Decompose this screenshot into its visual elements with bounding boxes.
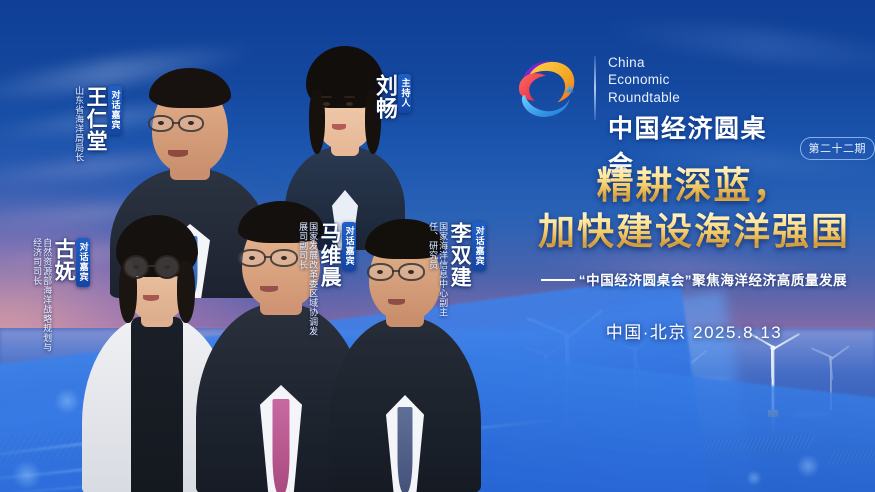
participant-role: 对话嘉宾 xyxy=(342,222,355,271)
headline-line-1: 精耕深蓝， xyxy=(524,163,864,209)
nameplate-wang-rentang: 对话嘉宾 王仁堂 山东省海洋局局长 xyxy=(74,86,122,162)
logo-en-line2: Economic xyxy=(608,71,875,88)
nameplate-gu-wu: 对话嘉宾 古妩 自然资源部海洋战略规划与经济司司长 xyxy=(32,238,90,358)
logo-divider xyxy=(594,56,596,120)
logo-en-line3: Roundtable xyxy=(608,89,875,106)
headline-block: 精耕深蓝， 加快建设海洋强国 “中国经济圆桌会”聚焦海洋经济高质量发展 xyxy=(524,163,864,289)
participant-name: 王仁堂 xyxy=(85,86,106,152)
bokeh-light xyxy=(746,470,762,486)
host-name: 刘畅 xyxy=(374,74,396,120)
participant-role: 对话嘉宾 xyxy=(472,222,485,271)
participant-title: 山东省海洋局局长 xyxy=(74,86,84,162)
logo-text-block: China Economic Roundtable 中国经济圆桌会 第二十二期 xyxy=(608,52,875,181)
participant-name: 古妩 xyxy=(53,238,74,282)
participant-title: 国家海洋信息中心副主任、研究员 xyxy=(428,222,448,334)
participant-role: 对话嘉宾 xyxy=(76,238,89,287)
host-role: 主持人 xyxy=(398,74,411,113)
program-logo-block: China Economic Roundtable 中国经济圆桌会 第二十二期 xyxy=(512,52,875,181)
headline-subtitle-row: “中国经济圆桌会”聚焦海洋经济高质量发展 xyxy=(524,269,864,289)
participant-name: 李双建 xyxy=(449,222,470,288)
nameplate-ma-weichen: 对话嘉宾 马维晨 国家发展改革委区域协调发展司副司长 xyxy=(298,222,356,340)
participant-role: 对话嘉宾 xyxy=(108,86,121,135)
participant-name: 马维晨 xyxy=(319,222,340,288)
issue-badge: 第二十二期 xyxy=(800,137,875,160)
em-dash-icon xyxy=(541,279,575,281)
event-location-date: 中国·北京 2025.8.13 xyxy=(524,318,864,343)
swirl-e-logo-icon xyxy=(512,52,584,124)
participant-title: 国家发展改革委区域协调发展司副司长 xyxy=(298,222,318,340)
bokeh-light xyxy=(796,454,820,478)
headline-line-2: 加快建设海洋强国 xyxy=(524,209,864,255)
logo-en-line1: China xyxy=(608,54,875,71)
nameplate-li-shuangjian: 对话嘉宾 李双建 国家海洋信息中心副主任、研究员 xyxy=(428,222,486,334)
broadcast-title-card: 对话嘉宾 王仁堂 山东省海洋局局长 主持人 刘畅 对话嘉宾 古妩 自然资源部海洋… xyxy=(0,0,875,492)
participant-title: 自然资源部海洋战略规划与经济司司长 xyxy=(32,238,52,358)
nameplate-liu-chang: 主持人 刘畅 xyxy=(374,74,411,120)
headline-subtitle: “中国经济圆桌会”聚焦海洋经济高质量发展 xyxy=(579,273,848,288)
